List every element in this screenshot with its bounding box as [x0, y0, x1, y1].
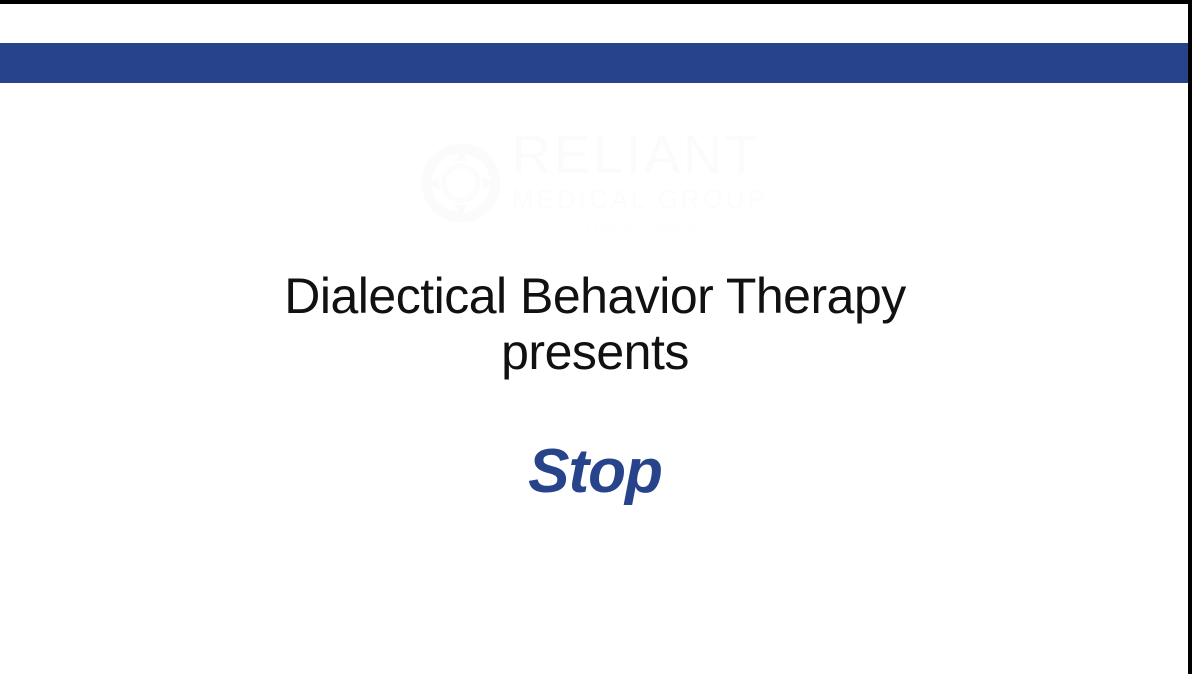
watermark-logo: RELIANT MEDICAL GROUP a Optum company [0, 120, 1190, 245]
header-accent-band [0, 43, 1190, 83]
watermark-tagline: a Optum company [570, 220, 710, 237]
slide-title-line-1: Dialectical Behavior Therapy [0, 268, 1190, 324]
watermark-brand-name: RELIANT [512, 128, 761, 182]
slide-title-line-2: presents [0, 324, 1190, 380]
reliant-circular-logo-icon [422, 144, 500, 222]
slide-subtitle: Stop [0, 436, 1190, 507]
slide-text-block: Dialectical Behavior Therapy presents St… [0, 268, 1190, 507]
watermark-brand-subname: MEDICAL GROUP [512, 186, 768, 212]
slide-title: Dialectical Behavior Therapy presents [0, 268, 1190, 380]
watermark-wordmark: RELIANT MEDICAL GROUP a Optum company [512, 128, 768, 237]
top-white-band [0, 4, 1192, 43]
presentation-slide: RELIANT MEDICAL GROUP a Optum company Di… [0, 0, 1200, 674]
